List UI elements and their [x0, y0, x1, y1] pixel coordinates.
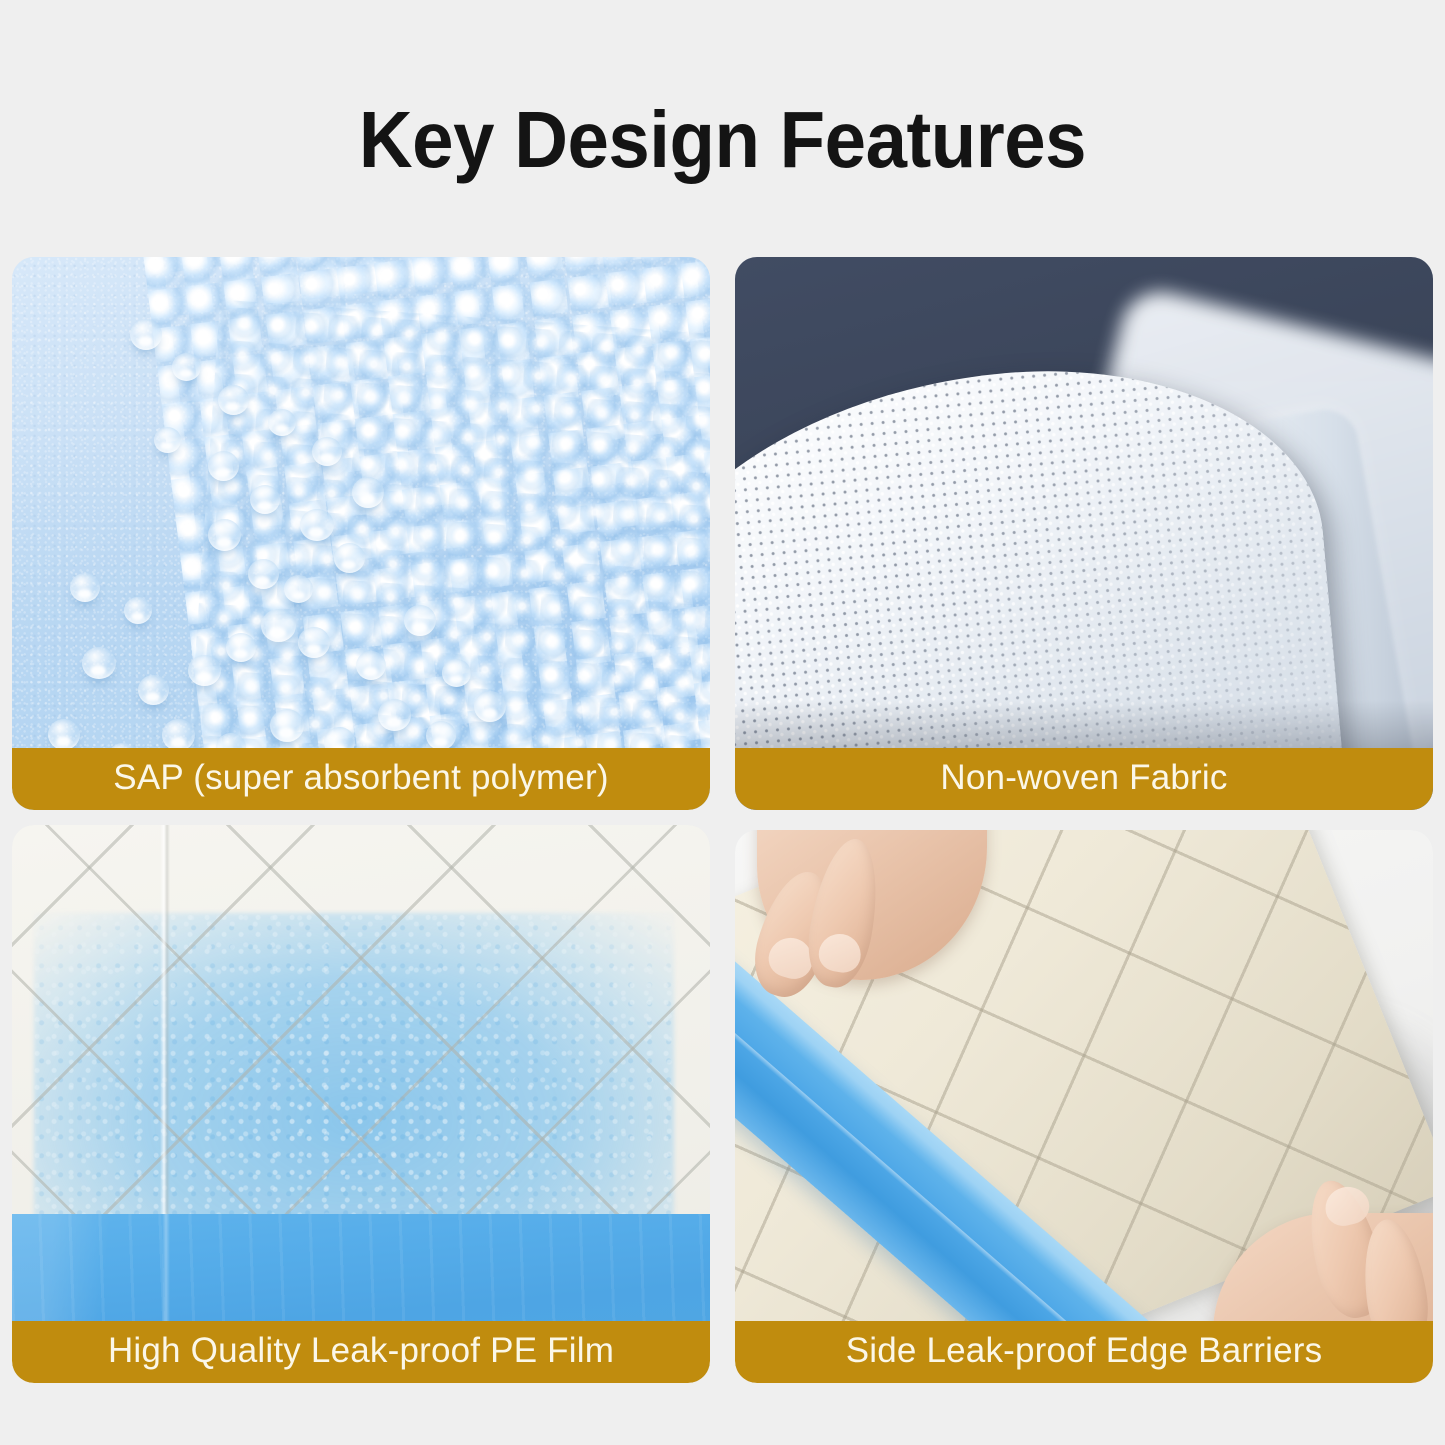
caption-non-woven: Non-woven Fabric: [735, 748, 1433, 810]
caption-sap: SAP (super absorbent polymer): [12, 748, 710, 810]
sap-bead: [218, 385, 249, 415]
sap-bead: [261, 609, 296, 642]
sap-bead: [172, 353, 201, 381]
infographic-page: Key Design Features: [0, 0, 1445, 1445]
sap-bead: [442, 659, 471, 687]
sap-bead: [284, 575, 313, 603]
caption-edge-barriers: Side Leak-proof Edge Barriers: [735, 1321, 1433, 1383]
sap-bead: [226, 633, 256, 662]
feature-grid: SAP (super absorbent polymer) Non-woven …: [12, 257, 1433, 1385]
pe-film-strip: [12, 1214, 710, 1321]
edge-barriers-photo: [735, 830, 1433, 1383]
sap-bead: [474, 691, 506, 722]
sap-bead: [138, 675, 169, 705]
sap-bead: [124, 597, 152, 624]
feature-card-edge-barriers[interactable]: Side Leak-proof Edge Barriers: [735, 830, 1433, 1383]
feature-card-non-woven[interactable]: Non-woven Fabric: [735, 257, 1433, 810]
sap-bead: [312, 437, 342, 466]
feature-card-sap[interactable]: SAP (super absorbent polymer): [12, 257, 710, 810]
sap-bead: [270, 709, 304, 742]
sap-bead: [356, 651, 386, 680]
sap-bead: [352, 477, 384, 508]
sap-bead: [162, 719, 195, 751]
sap-bead: [154, 427, 181, 453]
sap-bead: [334, 543, 365, 573]
pe-film-strip-crease: [162, 1214, 170, 1321]
sap-photo: [12, 257, 710, 810]
sap-bead: [426, 721, 456, 750]
sap-bead: [208, 451, 239, 481]
sap-bead: [378, 699, 411, 731]
non-woven-photo: [735, 257, 1433, 810]
sap-bead: [48, 719, 80, 750]
sap-bead: [130, 319, 162, 350]
pe-film-photo: [12, 825, 710, 1383]
sap-bead: [208, 519, 241, 551]
sap-bead: [250, 485, 280, 514]
sap-bead: [298, 627, 330, 658]
feature-card-pe-film[interactable]: High Quality Leak-proof PE Film: [12, 825, 710, 1383]
sap-bead: [70, 573, 100, 602]
sap-bead: [188, 655, 221, 686]
caption-pe-film: High Quality Leak-proof PE Film: [12, 1321, 710, 1383]
page-title: Key Design Features: [51, 100, 1395, 180]
sap-bead: [300, 509, 334, 541]
sap-bead: [82, 647, 116, 679]
sap-bead: [404, 605, 436, 636]
sap-bead: [268, 409, 296, 436]
sap-bead: [248, 559, 279, 589]
